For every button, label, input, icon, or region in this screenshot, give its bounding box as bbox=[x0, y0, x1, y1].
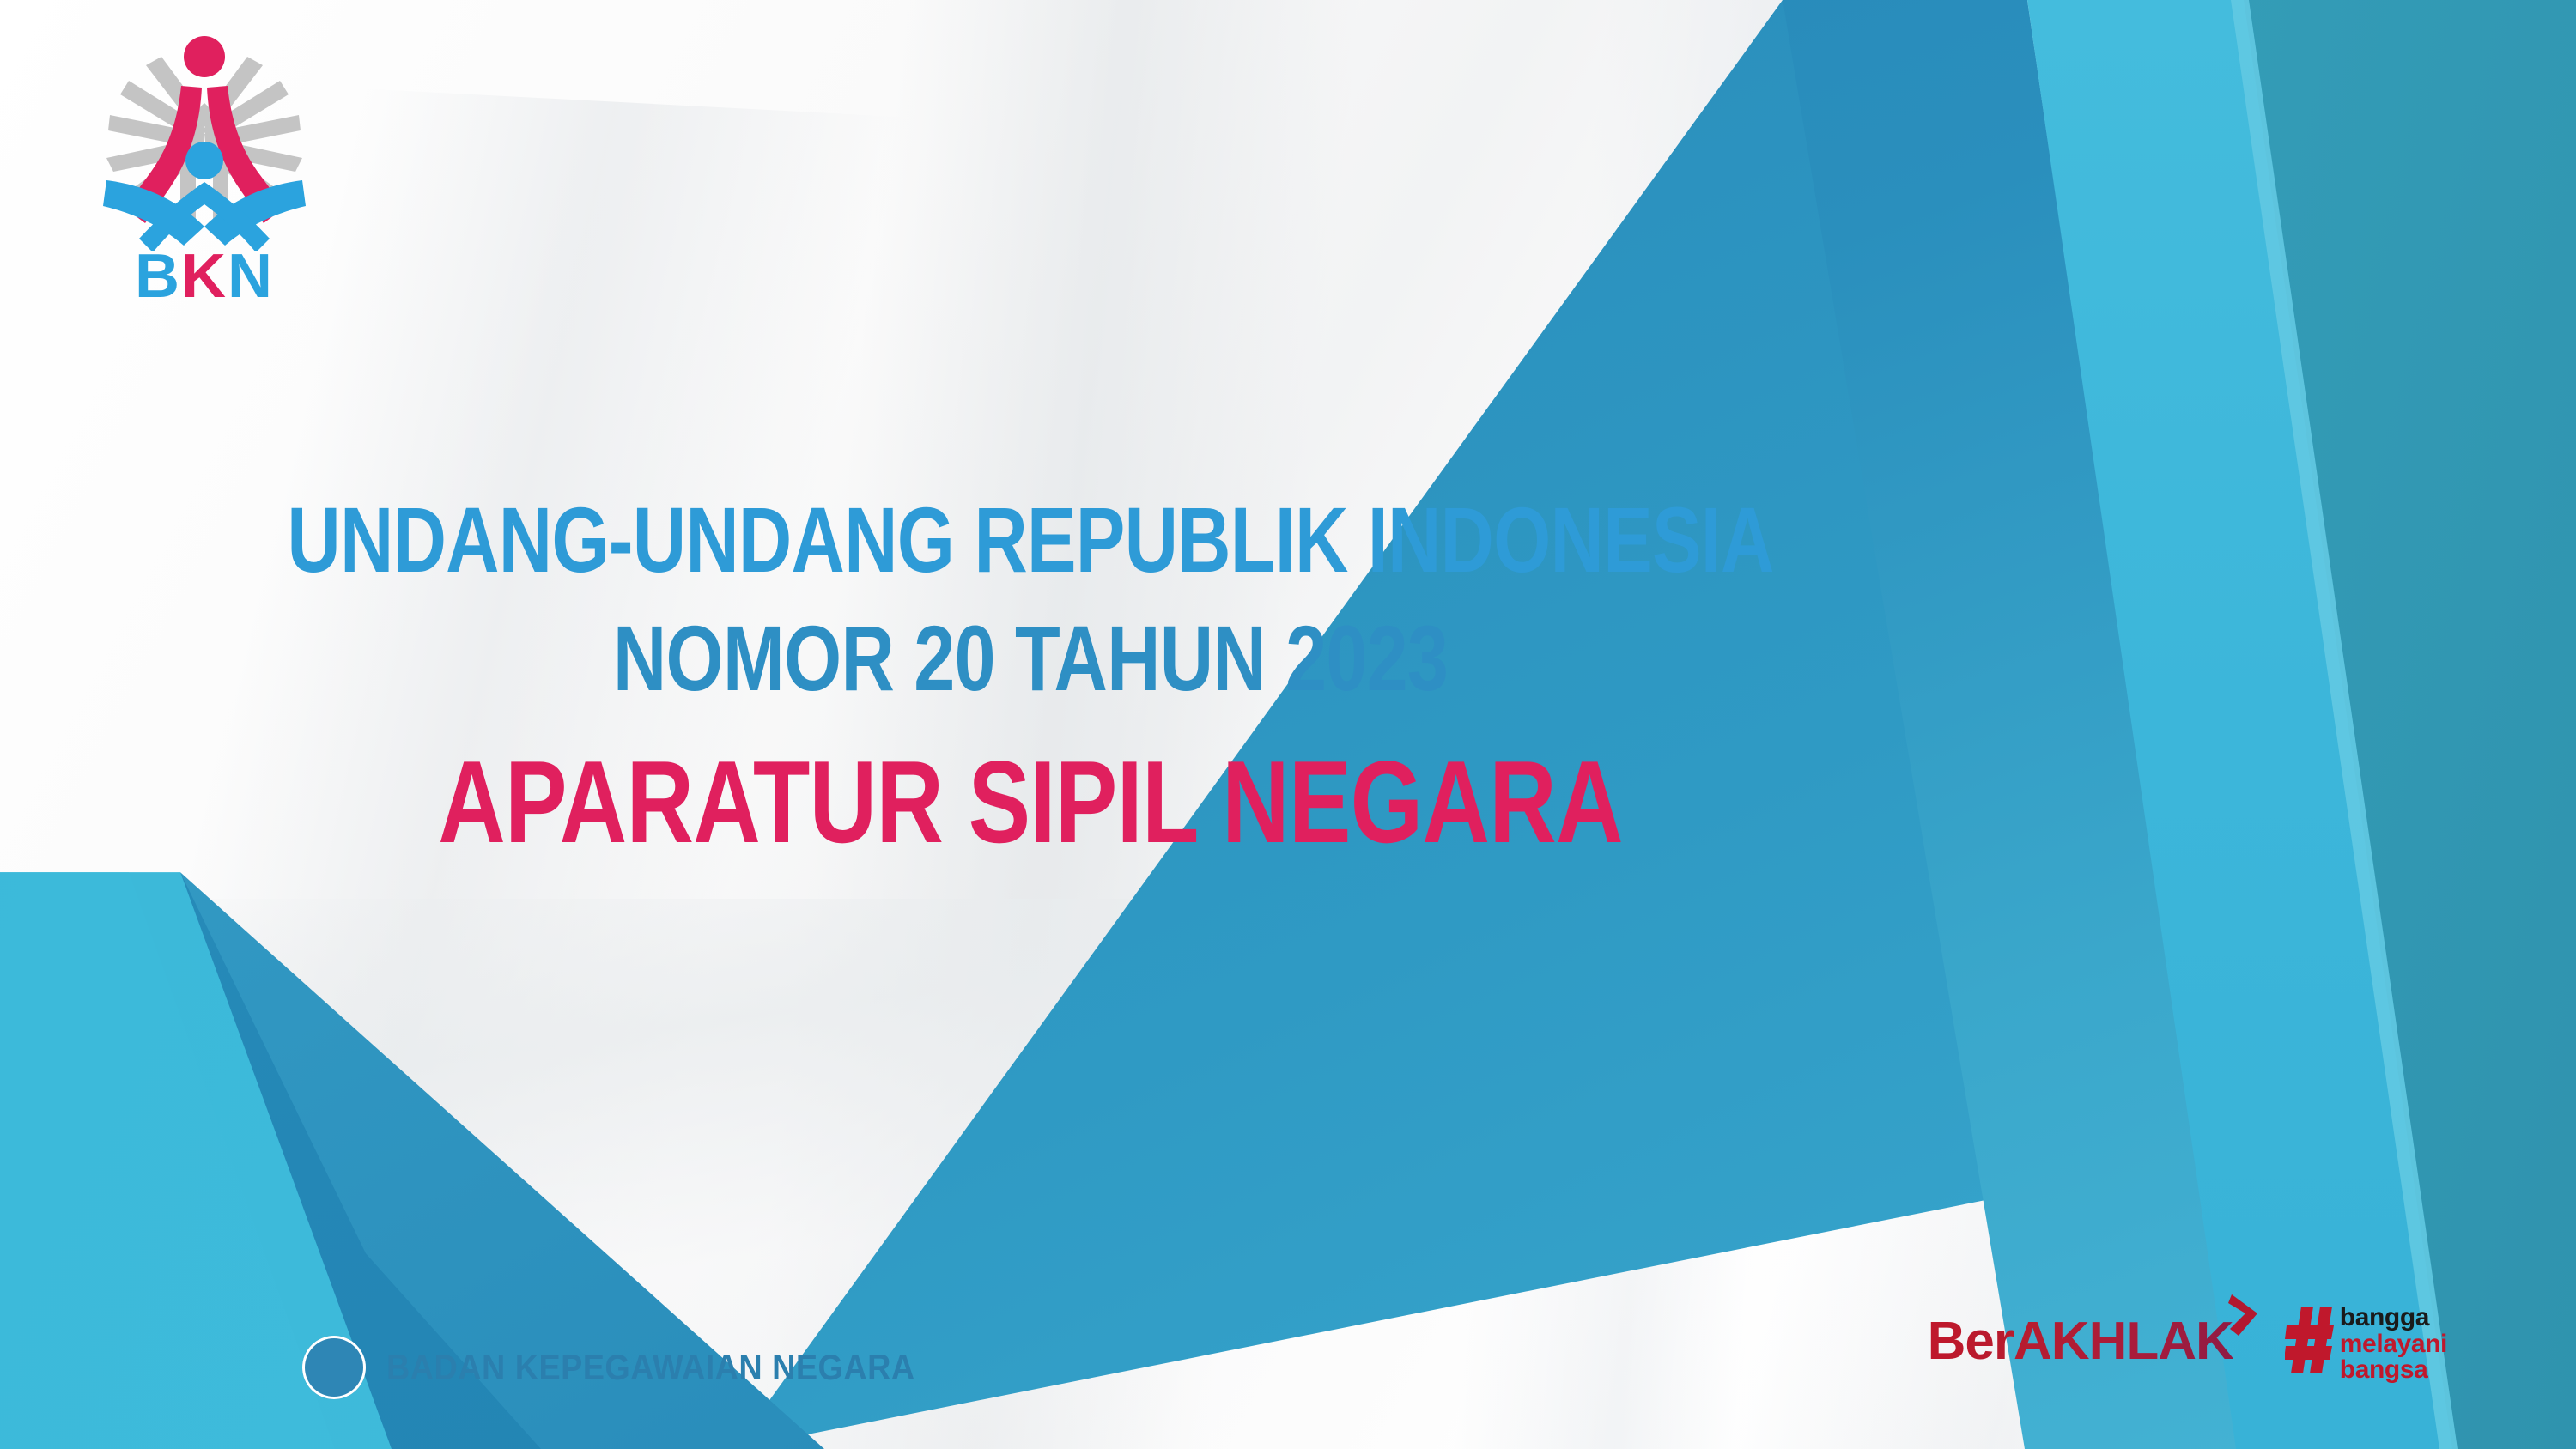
bkn-wordmark: BKN bbox=[101, 246, 307, 307]
bullet-circle-icon bbox=[302, 1336, 366, 1399]
organization-name: BADAN KEPEGAWAIAN NEGARA bbox=[386, 1347, 915, 1388]
bkn-emblem-icon bbox=[101, 21, 307, 251]
chevron-right-icon bbox=[2228, 1293, 2263, 1337]
berakhlak-wordmark: BerAKHLAK bbox=[1928, 1312, 2233, 1371]
bkn-letter-b: B bbox=[135, 242, 181, 311]
presentation-slide: BKN UNDANG-UNDANG REPUBLIK INDONESIA NOM… bbox=[0, 0, 2576, 1449]
slide-title-block: UNDANG-UNDANG REPUBLIK INDONESIA NOMOR 2… bbox=[0, 481, 2061, 878]
title-line-number: NOMOR 20 TAHUN 2023 bbox=[206, 599, 1855, 718]
title-line-law: UNDANG-UNDANG REPUBLIK INDONESIA bbox=[206, 481, 1855, 599]
berakhlak-logo: BerAKHLAK bbox=[1928, 1315, 2263, 1368]
bangga-tagline: bangga melayani bangsa bbox=[2340, 1305, 2447, 1384]
tagline-line-3: bangsa bbox=[2340, 1357, 2447, 1384]
tagline-line-2: melayani bbox=[2340, 1331, 2447, 1358]
berakhlak-brand-lockup: BerAKHLAK bangga melayani bangsa bbox=[1928, 1315, 2447, 1384]
hashtag-icon bbox=[2285, 1305, 2335, 1375]
bkn-letter-k: K bbox=[181, 242, 228, 311]
tagline-line-1: bangga bbox=[2340, 1305, 2447, 1331]
bkn-letter-n: N bbox=[228, 242, 274, 311]
bkn-logo: BKN bbox=[101, 21, 307, 347]
bangga-melayani-bangsa-logo: bangga melayani bangsa bbox=[2285, 1305, 2447, 1384]
footer-organization: BADAN KEPEGAWAIAN NEGARA bbox=[302, 1336, 974, 1399]
title-line-subject: APARATUR SIPIL NEGARA bbox=[206, 726, 1855, 878]
